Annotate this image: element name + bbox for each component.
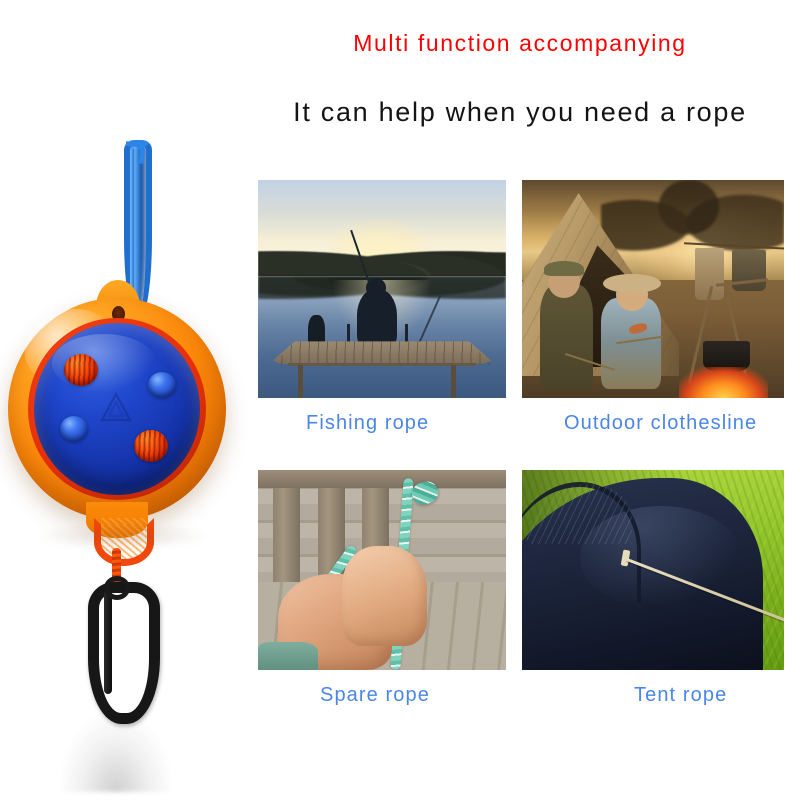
product-marketing-page: Multi function accompanying It can help … bbox=[0, 0, 800, 800]
headline-secondary: It can help when you need a rope bbox=[250, 97, 790, 128]
photo-clothesline bbox=[522, 180, 784, 398]
product-contact-shadow bbox=[36, 522, 208, 550]
reel-housing bbox=[8, 280, 226, 540]
photo-fishing bbox=[258, 180, 506, 398]
gallery-item-tent: Tent rope bbox=[522, 470, 784, 670]
gallery-item-fishing: Fishing rope bbox=[258, 180, 506, 398]
caption-spare: Spare rope bbox=[320, 684, 430, 707]
caption-clothesline: Outdoor clothesline bbox=[564, 412, 757, 435]
gallery-item-clothesline: Outdoor clothesline bbox=[522, 180, 784, 398]
red-knob-upper bbox=[64, 354, 98, 386]
photo-spare-rope bbox=[258, 470, 506, 670]
bottom-clip-icon bbox=[78, 582, 152, 708]
blue-knob-upper bbox=[148, 372, 176, 398]
gallery-item-spare: Spare rope bbox=[258, 470, 506, 670]
caption-fishing: Fishing rope bbox=[306, 412, 429, 435]
photo-tent-rope bbox=[522, 470, 784, 670]
product-image bbox=[0, 130, 250, 770]
blue-knob-lower bbox=[60, 416, 88, 442]
product-reflection bbox=[62, 716, 170, 792]
recycle-emboss-icon bbox=[92, 388, 140, 434]
caption-tent: Tent rope bbox=[634, 684, 727, 707]
headline-primary: Multi function accompanying bbox=[250, 30, 790, 57]
red-knob-lower bbox=[134, 430, 168, 462]
